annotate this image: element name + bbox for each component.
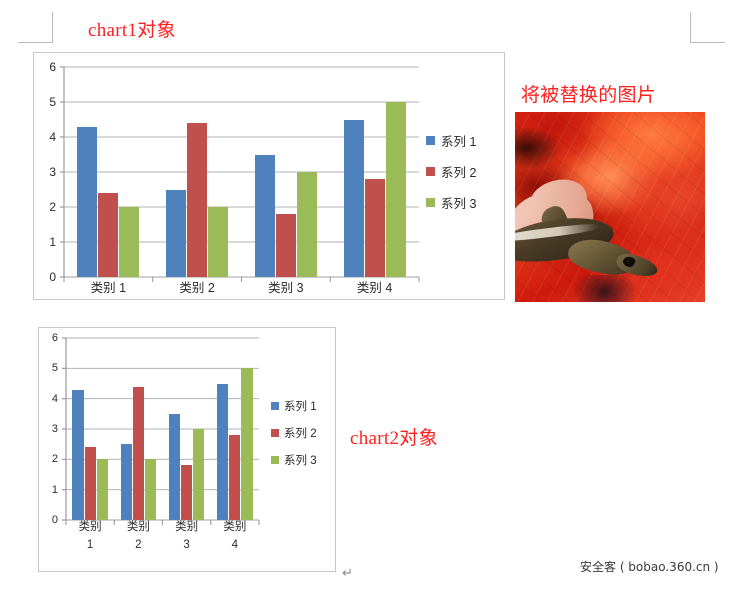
bar-系列2-4[interactable] [229,435,240,520]
bar-系列1-1[interactable] [72,390,83,520]
bar-系列3-3[interactable] [193,429,204,520]
legend-label: 系列 1 [441,131,476,150]
bar-系列1-3[interactable] [255,155,275,278]
bar-系列1-4[interactable] [217,384,228,521]
chart2-object[interactable]: 0123456 类别1类别2类别3类别4 系列 1系列 2系列 3 [38,327,336,572]
bar-系列3-3[interactable] [297,172,317,277]
chart2-category-label: 类别1 [66,520,114,552]
legend-item-系列2[interactable]: 系列 2 [271,425,317,441]
bar-系列1-2[interactable] [121,444,132,520]
bar-系列2-4[interactable] [365,179,385,277]
lizard-photo [515,112,705,302]
legend-swatch-icon [271,402,279,410]
chart1-y-tick-label: 2 [34,200,56,214]
chart1-y-tick-label: 6 [34,60,56,74]
legend-item-系列2[interactable]: 系列 2 [426,162,476,181]
chart1-category-label: 类别 4 [330,277,419,296]
chart1-category-label: 类别 1 [64,277,153,296]
chart1-object[interactable]: 0123456 类别 1类别 2类别 3类别 4 系列 1系列 2系列 3 [33,52,505,300]
chart1-y-tick-label: 4 [34,130,56,144]
legend-item-系列3[interactable]: 系列 3 [271,452,317,468]
chart2-category-label: 类别2 [114,520,162,552]
bar-系列2-1[interactable] [85,447,96,520]
annotation-chart1-label: chart1对象 [88,15,176,42]
chart1-plot-area: 0123456 类别 1类别 2类别 3类别 4 系列 1系列 2系列 3 [34,53,504,299]
bar-系列2-1[interactable] [98,193,118,277]
legend-label: 系列 1 [284,398,317,414]
bar-系列3-4[interactable] [386,102,406,277]
photo-shadow-top-left [515,127,561,169]
chart2-y-tick-label: 5 [39,362,58,374]
legend-label: 系列 2 [284,425,317,441]
legend-label: 系列 3 [441,193,476,212]
chart1-category-label: 类别 2 [153,277,242,296]
chart2-y-tick-label: 6 [39,332,58,344]
legend-item-系列3[interactable]: 系列 3 [426,193,476,212]
annotation-chart2-label: chart2对象 [350,423,438,450]
chart2-category-label: 类别3 [163,520,211,552]
bar-系列1-4[interactable] [344,120,364,278]
photo-shadow-bottom [572,275,637,302]
paragraph-mark: ↵ [342,566,353,581]
legend-label: 系列 3 [284,452,317,468]
bar-系列3-2[interactable] [145,459,156,520]
legend-swatch-icon [426,136,435,145]
bar-系列2-2[interactable] [133,387,144,520]
chart2-y-tick-label: 2 [39,453,58,465]
chart1-y-tick-label: 3 [34,165,56,179]
annotation-image-label: 将被替换的图片 [521,80,656,107]
chart2-y-tick-label: 4 [39,393,58,405]
bar-系列2-3[interactable] [276,214,296,277]
bar-系列1-1[interactable] [77,127,97,278]
legend-item-系列1[interactable]: 系列 1 [426,131,476,150]
legend-swatch-icon [426,198,435,207]
page-margin-mark-top-right [690,12,725,43]
chart2-plot-area: 0123456 类别1类别2类别3类别4 系列 1系列 2系列 3 [39,328,335,571]
chart2-y-tick-label: 0 [39,514,58,526]
chart1-legend[interactable]: 系列 1系列 2系列 3 [426,131,476,224]
chart2-y-tick-label: 3 [39,423,58,435]
legend-swatch-icon [271,429,279,437]
legend-swatch-icon [271,456,279,464]
chart1-y-tick-label: 1 [34,235,56,249]
embedded-picture-object[interactable] [515,112,705,302]
chart2-y-tick-label: 1 [39,484,58,496]
bar-系列3-1[interactable] [97,459,108,520]
chart2-category-label: 类别4 [211,520,259,552]
chart2-legend[interactable]: 系列 1系列 2系列 3 [271,398,317,479]
bar-系列3-2[interactable] [208,207,228,277]
bar-系列1-3[interactable] [169,414,180,520]
bar-系列2-3[interactable] [181,465,192,520]
bar-系列3-4[interactable] [241,368,252,520]
chart1-y-tick-label: 5 [34,95,56,109]
bar-系列3-1[interactable] [119,207,139,277]
bar-系列1-2[interactable] [166,190,186,278]
bar-系列2-2[interactable] [187,123,207,277]
chart1-y-tick-label: 0 [34,270,56,284]
site-watermark: 安全客 ( bobao.360.cn ) [580,558,719,575]
page-margin-mark-top-left [18,12,53,43]
legend-item-系列1[interactable]: 系列 1 [271,398,317,414]
chart1-category-label: 类别 3 [242,277,331,296]
legend-label: 系列 2 [441,162,476,181]
legend-swatch-icon [426,167,435,176]
